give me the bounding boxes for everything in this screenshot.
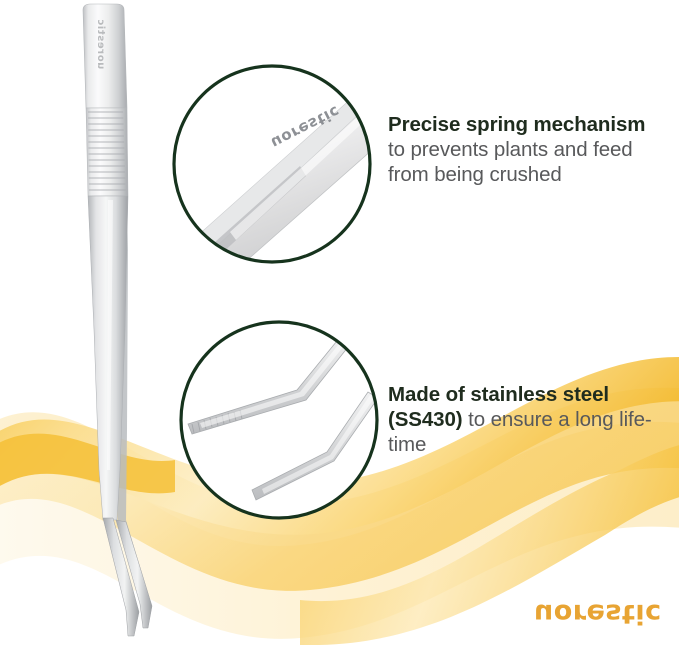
brand-logo: uorestic (534, 600, 662, 627)
callout-text-stainless-steel: Made of stainless steel (SS430) to ensur… (388, 382, 656, 457)
brand-logo-text: uorestic (534, 600, 662, 627)
callout-text-precise-spring-mechanism: Precise spring mechanism to prevents pla… (388, 112, 656, 187)
callout-circle-2 (0, 0, 679, 645)
callout-1-bold: Precise spring mechanism (388, 113, 645, 136)
callout-1-rest: to prevents plants and feed from being c… (388, 138, 633, 186)
infographic-canvas: uorestic (0, 0, 679, 645)
